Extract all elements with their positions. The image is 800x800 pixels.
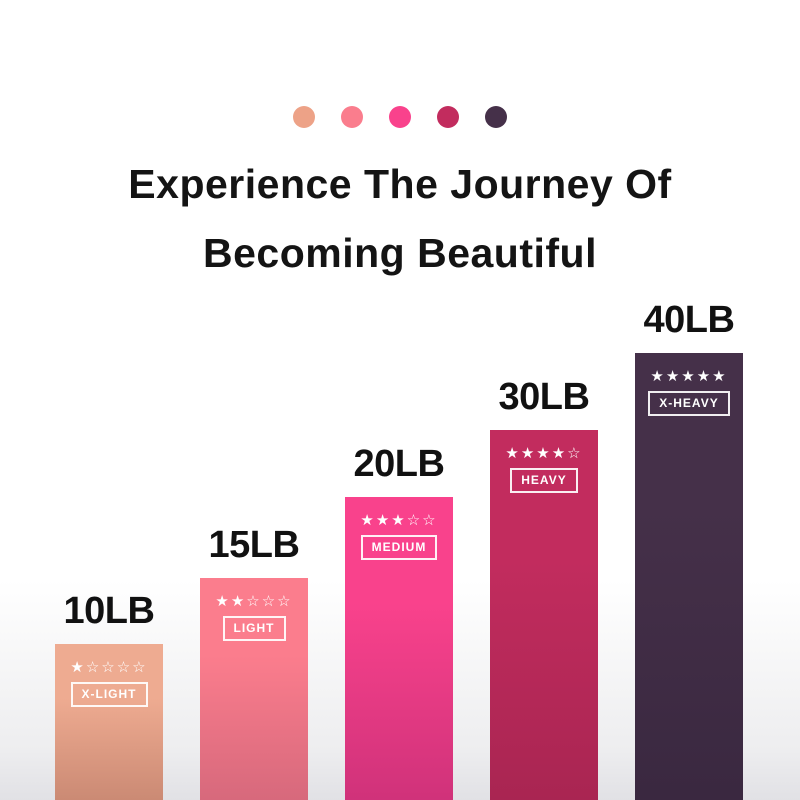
tier-label: LIGHT [223,616,286,641]
dot-x-light [293,106,315,128]
tier-label: X-LIGHT [71,682,148,707]
tier-label: MEDIUM [361,535,438,560]
bar-weight-label: 20LB [345,443,453,486]
bar-weight-label: 15LB [200,524,308,567]
bar-body[interactable] [635,353,743,800]
bar-badge: ★★★★☆HEAVY [490,446,598,493]
star-rating-icon: ★☆☆☆☆ [70,660,147,675]
tier-label: X-HEAVY [648,391,729,416]
bar-column-medium[interactable]: 20LB★★★☆☆MEDIUM [345,497,453,800]
bar-column-heavy[interactable]: 30LB★★★★☆HEAVY [490,430,598,800]
bar-badge: ★★☆☆☆LIGHT [200,594,308,641]
star-rating-icon: ★★★★☆ [505,446,582,461]
tier-label: HEAVY [510,468,577,493]
page-header: Experience The Journey Of Becoming Beaut… [0,150,800,288]
dot-light [341,106,363,128]
bar-weight-label: 30LB [490,376,598,419]
bar-column-x-light[interactable]: 10LB★☆☆☆☆X-LIGHT [55,644,163,800]
star-rating-icon: ★★★☆☆ [360,513,437,528]
star-rating-icon: ★★☆☆☆ [215,594,292,609]
bar-badge: ★★★★★X-HEAVY [635,369,743,416]
bar-column-x-heavy[interactable]: 40LB★★★★★X-HEAVY [635,353,743,800]
star-rating-icon: ★★★★★ [650,369,727,384]
bar-badge: ★★★☆☆MEDIUM [345,513,453,560]
header-line-2: Becoming Beautiful [0,219,800,288]
dot-heavy [437,106,459,128]
color-swatch-row [0,106,800,128]
bar-column-light[interactable]: 15LB★★☆☆☆LIGHT [200,578,308,800]
bar-badge: ★☆☆☆☆X-LIGHT [55,660,163,707]
bar-weight-label: 40LB [635,299,743,342]
dot-x-heavy [485,106,507,128]
bar-weight-label: 10LB [55,590,163,633]
dot-medium [389,106,411,128]
header-line-1: Experience The Journey Of [0,150,800,219]
